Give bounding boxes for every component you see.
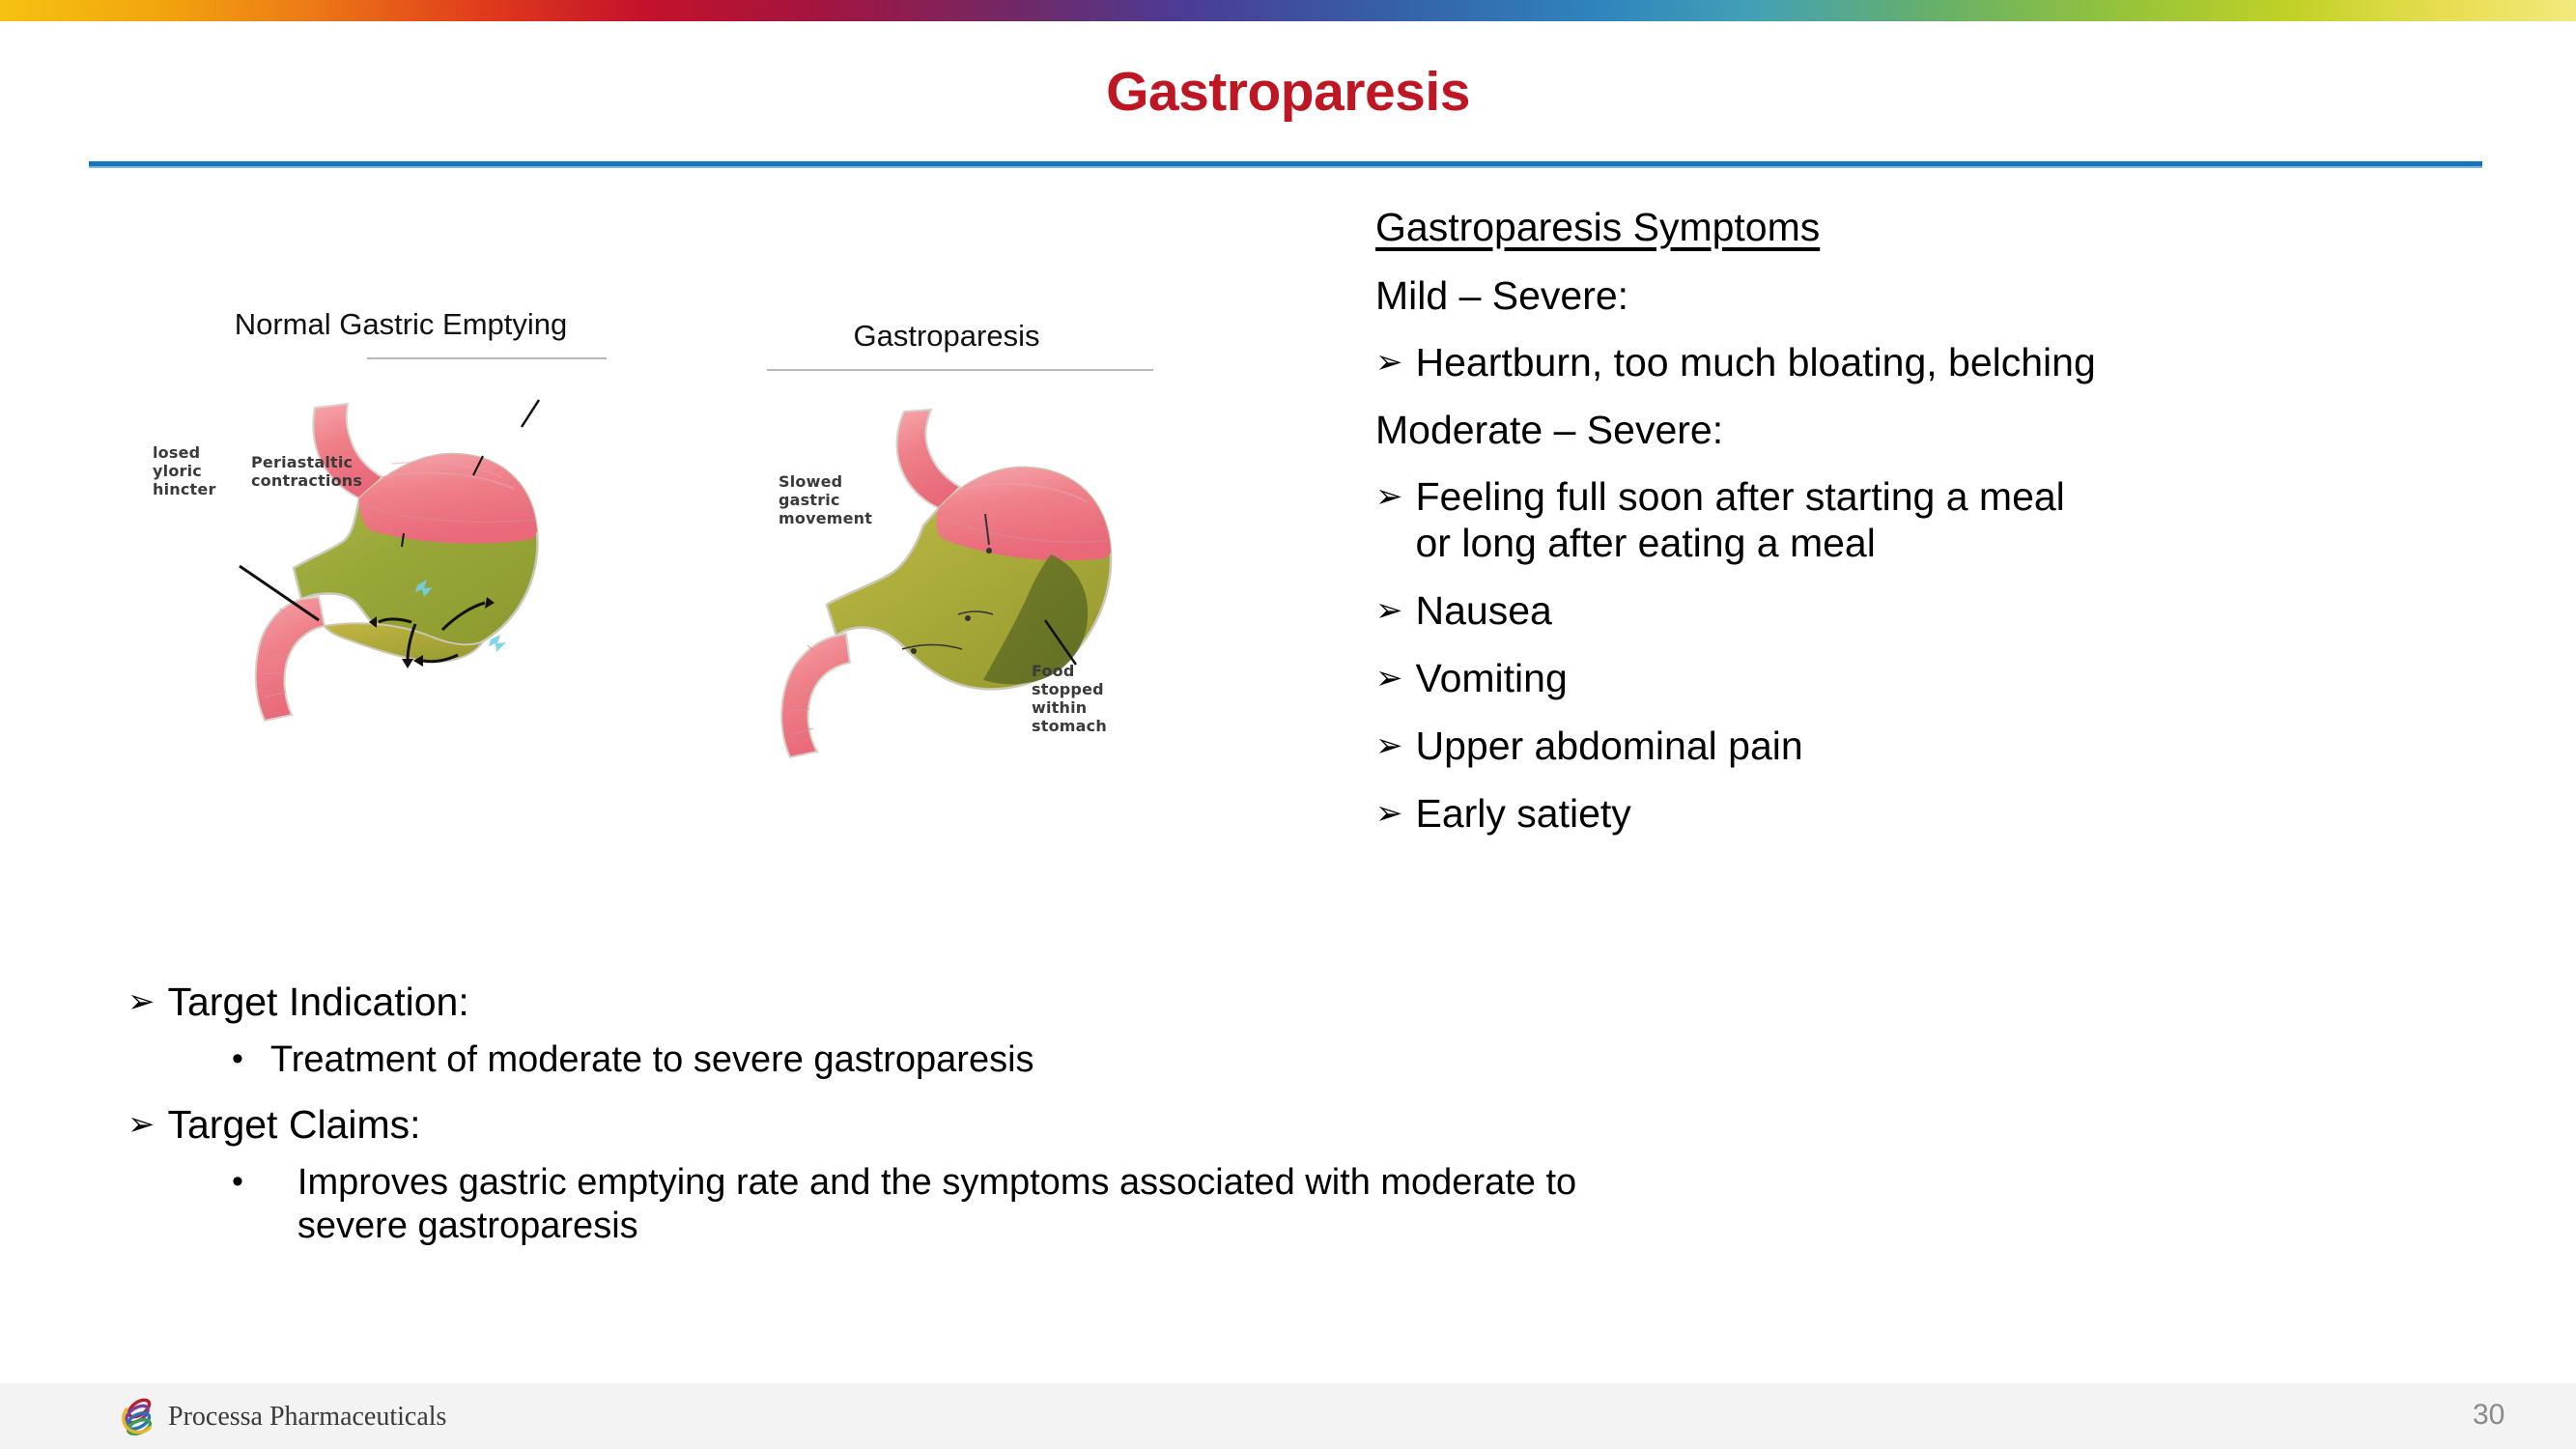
stomach-diagram-normal: losed yloric hincter Periastaltic contra… [193, 361, 609, 748]
figure-rule-gastroparesis [767, 369, 1153, 371]
decorative-rainbow-bar [0, 0, 2576, 21]
symptoms-heading: Gastroparesis Symptoms [1375, 205, 2438, 250]
target-claims-label-row: ➢ Target Claims: [127, 1102, 2349, 1148]
target-indication-text: Treatment of moderate to severe gastropa… [270, 1038, 1613, 1083]
footer-brand-text: Processa Pharmaceuticals [168, 1402, 446, 1433]
dot-bullet-icon: • [232, 1038, 243, 1081]
symptom-item: ➢ Feeling full soon after starting a mea… [1375, 474, 2438, 567]
target-claims-label: Target Claims: [168, 1102, 421, 1148]
symptoms-group-label-moderate: Moderate – Severe: [1375, 408, 2438, 453]
stomach-normal-svg [193, 361, 609, 748]
symptom-item: ➢ Upper abdominal pain [1375, 724, 2438, 770]
symptoms-panel: Gastroparesis Symptoms Mild – Severe: ➢ … [1375, 205, 2438, 859]
annotation-food-stopped-within-stomach: Food stopped within stomach [1032, 663, 1107, 736]
dot-bullet-icon: • [232, 1161, 243, 1204]
figure-caption-gastroparesis: Gastroparesis [744, 319, 1149, 354]
arrow-bullet-icon: ➢ [1375, 791, 1403, 837]
arrow-bullet-icon: ➢ [1375, 474, 1403, 520]
page-title: Gastroparesis [0, 60, 2576, 124]
figure-gastroparesis: Gastroparesis [744, 319, 1149, 354]
symptom-item: ➢ Heartburn, too much bloating, belching [1375, 340, 2438, 386]
stomach-diagram-gastroparesis: Slowed gastric movement Food stopped wit… [744, 373, 1149, 759]
target-indication-label-row: ➢ Target Indication: [127, 980, 2349, 1025]
footer-brand: Processa Pharmaceuticals [118, 1396, 446, 1438]
arrow-bullet-icon: ➢ [127, 980, 156, 1025]
arrow-bullet-icon: ➢ [1375, 656, 1403, 701]
arrow-bullet-icon: ➢ [127, 1102, 156, 1148]
symptoms-group-label-mild: Mild – Severe: [1375, 273, 2438, 319]
symptom-text: Nausea [1416, 588, 2439, 635]
arrow-bullet-icon: ➢ [1375, 340, 1403, 385]
figures-region: Normal Gastric Emptying [193, 307, 1265, 810]
symptom-text: Heartburn, too much bloating, belching [1416, 340, 2439, 386]
symptom-text: Vomiting [1416, 656, 2439, 702]
target-profile-block: ➢ Target Indication: • Treatment of mode… [127, 980, 2349, 1268]
annotation-peristaltic-contractions: Periastaltic contractions [251, 454, 362, 491]
figure-normal-gastric-emptying: Normal Gastric Emptying [193, 307, 609, 342]
target-claims-item: • Improves gastric emptying rate and the… [232, 1161, 2349, 1249]
figure-caption-normal: Normal Gastric Emptying [193, 307, 609, 342]
symptom-item: ➢ Early satiety [1375, 791, 2438, 838]
symptom-text: Upper abdominal pain [1416, 724, 2439, 770]
target-indication-label: Target Indication: [168, 980, 469, 1025]
symptom-item: ➢ Vomiting [1375, 656, 2438, 702]
arrow-bullet-icon: ➢ [1375, 724, 1403, 769]
annotation-closed-pyloric-sphincter: losed yloric hincter [153, 444, 216, 499]
arrow-bullet-icon: ➢ [1375, 588, 1403, 634]
figure-rule-normal [367, 357, 607, 359]
annotation-slowed-gastric-movement: Slowed gastric movement [778, 473, 872, 528]
title-divider [89, 161, 2482, 168]
symptom-text: Early satiety [1416, 791, 2439, 838]
target-indication-item: • Treatment of moderate to severe gastro… [232, 1038, 2349, 1083]
symptom-text: Feeling full soon after starting a meal … [1416, 474, 2092, 567]
page-number: 30 [2473, 1399, 2540, 1432]
processa-logo-icon [118, 1396, 160, 1438]
symptom-item: ➢ Nausea [1375, 588, 2438, 635]
target-claims-text: Improves gastric emptying rate and the s… [297, 1161, 1640, 1249]
